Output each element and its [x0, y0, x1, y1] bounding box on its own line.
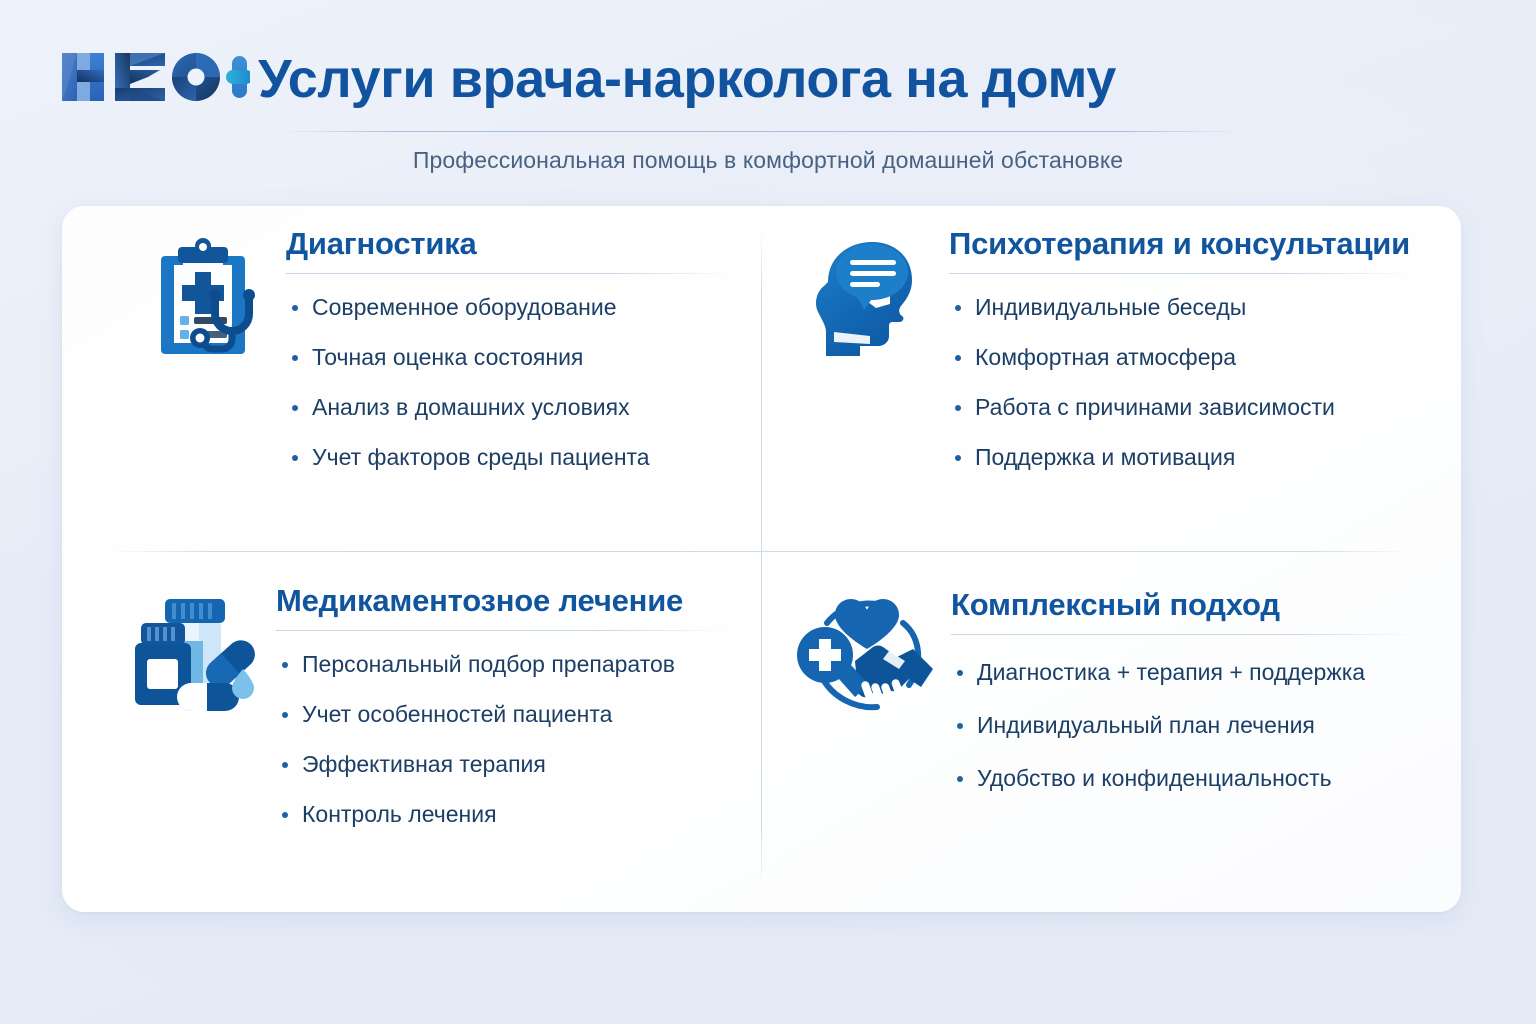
card-title: Диагностика: [286, 228, 731, 261]
clipboard-stethoscope-icon: [140, 228, 266, 364]
header: Услуги врача-нарколога на дому Профессио…: [0, 0, 1536, 200]
service-card-complex-approach[interactable]: Комплексный подход Диагностика + терапия…: [761, 551, 1461, 912]
logo-svg: [60, 48, 250, 106]
service-card-medication[interactable]: Медикаментозное лечение Персональный под…: [62, 551, 761, 912]
card-title-divider: [951, 634, 1417, 635]
page-title-row: Услуги врача-нарколога на дому: [258, 44, 1116, 114]
list-item: Учет особенностей пациента: [276, 703, 731, 726]
service-card-diagnostics[interactable]: Диагностика Современное оборудование Точ…: [62, 206, 761, 551]
header-divider: [282, 131, 1240, 132]
services-board: Диагностика Современное оборудование Точ…: [62, 206, 1461, 912]
card-bullet-list: Современное оборудование Точная оценка с…: [286, 296, 731, 469]
list-item: Диагностика + терапия + поддержка: [951, 661, 1431, 684]
list-item: Удобство и конфиденциальность: [951, 767, 1431, 790]
list-item: Анализ в домашних условиях: [286, 396, 731, 419]
card-title: Медикаментозное лечение: [276, 585, 731, 618]
card-title-divider: [286, 273, 734, 274]
card-title: Комплексный подход: [951, 589, 1431, 622]
card-bullet-list: Индивидуальные беседы Комфортная атмосфе…: [949, 296, 1431, 469]
list-item: Точная оценка состояния: [286, 346, 731, 369]
list-item: Эффективная терапия: [276, 753, 731, 776]
logo-letter-n: [62, 53, 104, 101]
list-item: Контроль лечения: [276, 803, 731, 826]
list-item: Учет факторов среды пациента: [286, 446, 731, 469]
card-body: Диагностика Современное оборудование Точ…: [286, 228, 731, 496]
list-item: Поддержка и мотивация: [949, 446, 1431, 469]
card-title: Психотерапия и консультации: [949, 228, 1431, 261]
card-body: Медикаментозное лечение Персональный под…: [276, 585, 731, 853]
infographic-page: Услуги врача-нарколога на дому Профессио…: [0, 0, 1536, 1024]
list-item: Современное оборудование: [286, 296, 731, 319]
neo-plus-logo: [60, 46, 250, 108]
head-speech-bubble-icon: [801, 228, 931, 364]
heart-handshake-cross-icon: [793, 589, 943, 715]
page-subtitle: Профессиональная помощь в комфортной дом…: [0, 147, 1536, 174]
logo-letter-e: [115, 53, 165, 101]
card-bullet-list: Диагностика + терапия + поддержка Индиви…: [951, 661, 1431, 790]
logo-letter-o: [172, 53, 220, 101]
card-title-divider: [949, 273, 1411, 274]
card-body: Комплексный подход Диагностика + терапия…: [951, 589, 1431, 820]
service-card-psychotherapy[interactable]: Психотерапия и консультации Индивидуальн…: [761, 206, 1461, 551]
list-item: Комфортная атмосфера: [949, 346, 1431, 369]
page-title: Услуги врача-нарколога на дому: [258, 52, 1116, 106]
card-body: Психотерапия и консультации Индивидуальн…: [949, 228, 1431, 496]
card-bullet-list: Персональный подбор препаратов Учет особ…: [276, 653, 731, 826]
logo-plus-icon: [226, 56, 250, 98]
list-item: Индивидуальные беседы: [949, 296, 1431, 319]
card-title-divider: [276, 630, 728, 631]
pill-bottles-capsule-icon: [122, 585, 268, 719]
list-item: Индивидуальный план лечения: [951, 714, 1431, 737]
list-item: Работа с причинами зависимости: [949, 396, 1431, 419]
list-item: Персональный подбор препаратов: [276, 653, 731, 676]
